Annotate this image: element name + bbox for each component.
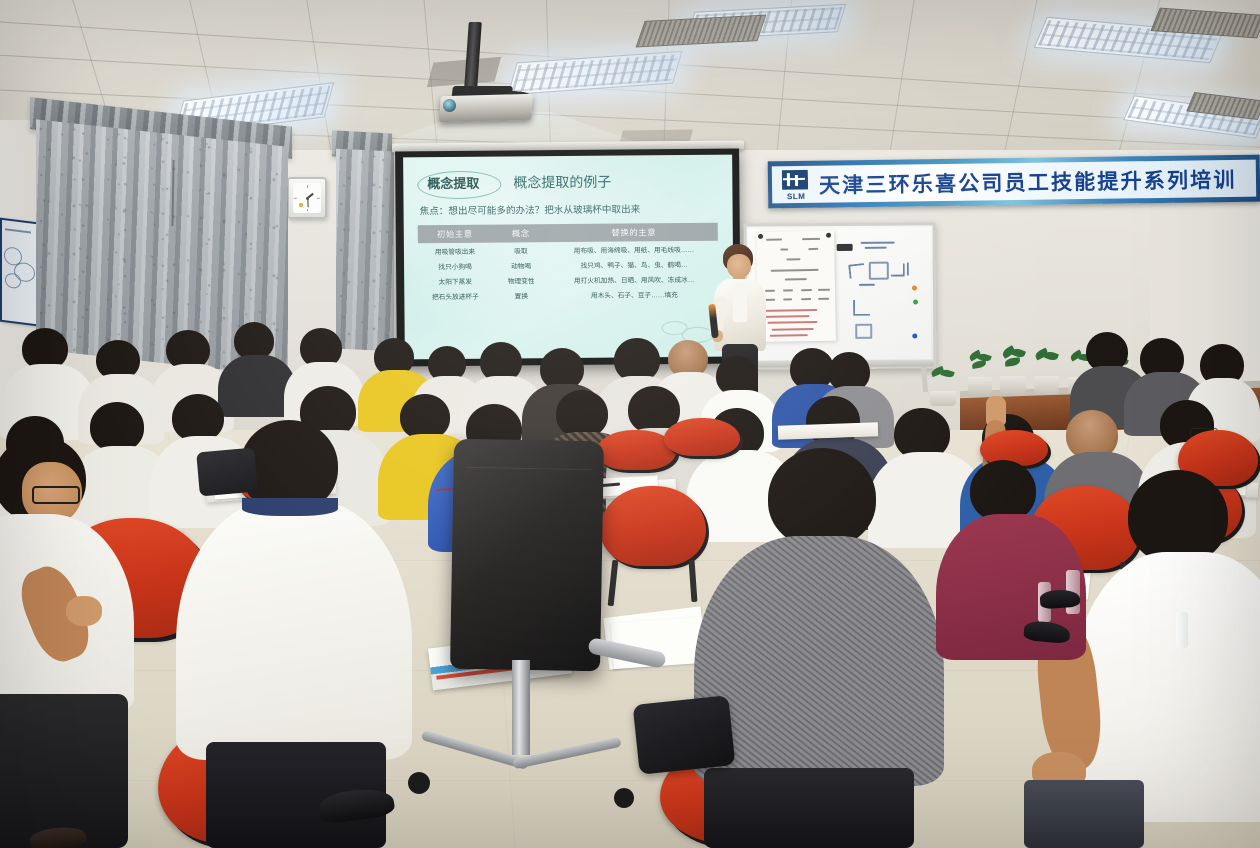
- banner-title: 天津三环乐喜公司员工技能提升系列培训: [819, 163, 1237, 199]
- training-banner: SLM 天津三环乐喜公司员工技能提升系列培训: [768, 155, 1260, 209]
- slide-badge-text: 概念提取: [427, 177, 479, 190]
- slide-table-cell: 动物喝: [492, 257, 550, 273]
- slm-logo-text: SLM: [780, 191, 812, 200]
- slide-table-cell: 用吸管吸出来: [418, 243, 492, 259]
- training-room-photo: 概念提取 概念提取的例子 焦点：想出尽可能多的办法？把水从玻璃杯中取出来 初始主…: [0, 0, 1260, 848]
- slide-table-cell: 找只小狗喝: [418, 258, 492, 274]
- slide-table-cell: 用布吸、用海绵吸、用纸、用毛线吸……: [550, 241, 718, 258]
- slide-table: 初始主意 概念 替换的主意 用吸管吸出来 吸取 用布吸、用海绵吸、用纸、用毛线吸…: [418, 223, 719, 304]
- slide-title: 概念提取的例子: [513, 175, 611, 190]
- water-bottle[interactable]: [1176, 612, 1188, 648]
- ceiling-light-panel: [508, 51, 683, 95]
- slide-table-cell: 太阳下蒸发: [418, 273, 492, 289]
- bag: [633, 695, 736, 775]
- slide-table-cell: 物理变性: [492, 273, 550, 289]
- slide-table-header-cell: 初始主意: [418, 225, 492, 244]
- whiteboard-eraser[interactable]: [837, 244, 853, 251]
- bag: [196, 448, 258, 497]
- office-chair-backrest[interactable]: [450, 439, 604, 672]
- attendee-trousers: [0, 694, 128, 848]
- attendee-head: [970, 460, 1036, 522]
- wall-clock: [287, 177, 327, 219]
- attendee-trousers: [704, 768, 914, 848]
- attendee-head: [1128, 470, 1228, 564]
- attendee-head: [768, 448, 876, 548]
- whiteboard-magnet[interactable]: [912, 285, 917, 290]
- polo-collar: [242, 498, 338, 516]
- slm-company-logo: SLM: [780, 169, 812, 199]
- office-chair-caster: [614, 788, 634, 808]
- attendee-hand: [66, 596, 102, 626]
- attendee-foreground-center-right: [676, 448, 956, 848]
- slide-table-cell: 吸取: [492, 242, 550, 258]
- slide-table-cell: 找只鸡、鸭子、猫、鸟、虫、鹤喝…: [550, 256, 718, 273]
- eyeglasses-icon: [32, 486, 80, 504]
- attendee-foreground-left: [0, 436, 190, 848]
- projector-lens-icon: [443, 99, 456, 112]
- shoe: [1039, 589, 1080, 610]
- flipchart-magnet[interactable]: [826, 233, 831, 238]
- ceiling-air-vent: [636, 15, 767, 48]
- attendee-maroon: [946, 460, 1096, 660]
- slide-table-header-cell: 替换的主意: [550, 223, 718, 242]
- slide-focus-line: 焦点：想出尽可能多的办法？把水从玻璃杯中取出来: [420, 205, 641, 217]
- attendee-trousers: [1024, 780, 1144, 848]
- office-chair-gas-column: [512, 660, 530, 755]
- slide-table-header-cell: 概念: [492, 224, 550, 243]
- flipchart-magnet[interactable]: [758, 234, 763, 239]
- attendee-body: [176, 500, 412, 760]
- slide-table-cell: 用打火机加热、日晒、用风吹、冻成冰…: [550, 271, 718, 288]
